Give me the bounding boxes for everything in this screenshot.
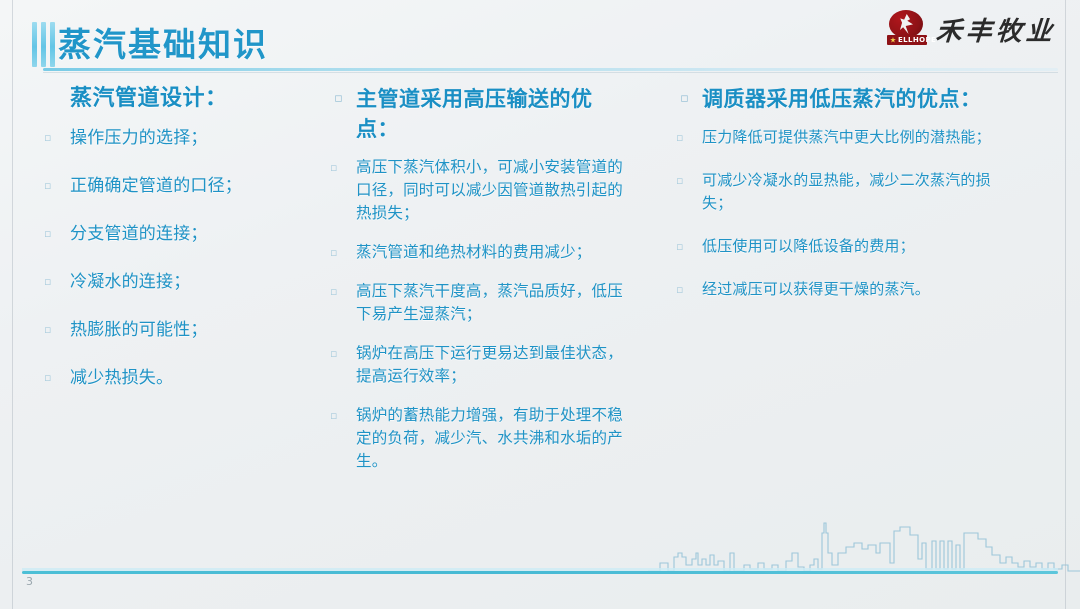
title-accent-bars-icon <box>32 22 55 67</box>
bullet-square-icon: ▫ <box>330 404 356 425</box>
header-divider <box>43 68 1058 71</box>
list-item-text: 冷凝水的连接； <box>70 270 190 294</box>
list-item: ▫ 减少热损失。 <box>44 366 324 390</box>
list-item-text: 低压使用可以降低设备的费用； <box>702 235 915 258</box>
bullet-square-icon: ▫ <box>676 169 702 190</box>
list-item-text: 可减少冷凝水的显热能，减少二次蒸汽的损失； <box>702 169 1006 215</box>
bullet-square-icon: ▫ <box>44 222 70 243</box>
slide-header: 蒸汽基础知识 ELLHOPE 禾丰牧业 <box>0 0 1080 76</box>
bullet-square-icon: ▫ <box>44 366 70 387</box>
column-1-list: ▫ 操作压力的选择； ▫ 正确确定管道的口径； ▫ 分支管道的连接； ▫ 冷凝水… <box>44 126 324 390</box>
content-columns: ▫ 蒸汽管道设计： ▫ 操作压力的选择； ▫ 正确确定管道的口径； ▫ 分支管道… <box>0 84 1080 534</box>
logo-emblem-icon: ELLHOPE <box>887 10 927 48</box>
list-item: ▫ 操作压力的选择； <box>44 126 324 150</box>
list-item: ▫ 经过减压可以获得更干燥的蒸汽。 <box>676 278 1006 301</box>
logo-mark-text: ELLHOPE <box>898 36 936 44</box>
list-item: ▫ 分支管道的连接； <box>44 222 324 246</box>
list-item-text: 高压下蒸汽干度高，蒸汽品质好，低压下易产生湿蒸汽； <box>356 280 630 326</box>
list-item: ▫ 压力降低可提供蒸汽中更大比例的潜热能； <box>676 126 1006 149</box>
list-item-text: 压力降低可提供蒸汽中更大比例的潜热能； <box>702 126 991 149</box>
bullet-square-icon: ▫ <box>330 241 356 262</box>
column-1-heading: 蒸汽管道设计： <box>70 84 228 114</box>
column-2-heading-row: ▫ 主管道采用高压输送的优点： <box>330 84 630 144</box>
list-item: ▫ 可减少冷凝水的显热能，减少二次蒸汽的损失； <box>676 169 1006 215</box>
column-2-list: ▫ 高压下蒸汽体积小，可减小安装管道的口径，同时可以减少因管道散热引起的热损失；… <box>330 156 630 473</box>
list-item-text: 蒸汽管道和绝热材料的费用减少； <box>356 241 592 264</box>
bullet-square-icon: ▫ <box>44 126 70 147</box>
footer-divider <box>22 571 1058 574</box>
company-logo: ELLHOPE 禾丰牧业 <box>887 10 1056 48</box>
list-item-text: 操作压力的选择； <box>70 126 208 150</box>
list-item-text: 锅炉的蓄热能力增强，有助于处理不稳定的负荷，减少汽、水共沸和水垢的产生。 <box>356 404 630 473</box>
list-item: ▫ 热膨胀的可能性； <box>44 318 324 342</box>
list-item: ▫ 正确确定管道的口径； <box>44 174 324 198</box>
list-item: ▫ 锅炉的蓄热能力增强，有助于处理不稳定的负荷，减少汽、水共沸和水垢的产生。 <box>330 404 630 473</box>
bullet-square-icon: ▫ <box>44 270 70 291</box>
list-item: ▫ 蒸汽管道和绝热材料的费用减少； <box>330 241 630 264</box>
list-item-text: 正确确定管道的口径； <box>70 174 242 198</box>
list-item: ▫ 高压下蒸汽体积小，可减小安装管道的口径，同时可以减少因管道散热引起的热损失； <box>330 156 630 225</box>
list-item: ▫ 高压下蒸汽干度高，蒸汽品质好，低压下易产生湿蒸汽； <box>330 280 630 326</box>
content-column-1: ▫ 蒸汽管道设计： ▫ 操作压力的选择； ▫ 正确确定管道的口径； ▫ 分支管道… <box>44 84 324 414</box>
column-3-heading-marker-icon: ▫ <box>676 84 702 114</box>
bullet-square-icon: ▫ <box>44 318 70 339</box>
slide-canvas: 蒸汽基础知识 ELLHOPE 禾丰牧业 ▫ 蒸汽管道设计： <box>0 0 1080 609</box>
list-item-text: 经过减压可以获得更干燥的蒸汽。 <box>702 278 930 301</box>
header-divider-secondary <box>43 72 1058 73</box>
column-1-heading-row: ▫ 蒸汽管道设计： <box>44 84 324 114</box>
column-3-list: ▫ 压力降低可提供蒸汽中更大比例的潜热能； ▫ 可减少冷凝水的显热能，减少二次蒸… <box>676 126 1006 301</box>
logo-star-icon <box>890 37 896 43</box>
column-3-heading: 调质器采用低压蒸汽的优点： <box>702 84 982 114</box>
content-column-2: ▫ 主管道采用高压输送的优点： ▫ 高压下蒸汽体积小，可减小安装管道的口径，同时… <box>330 84 630 489</box>
list-item-text: 减少热损失。 <box>70 366 173 390</box>
page-number: 3 <box>26 575 34 588</box>
bullet-square-icon: ▫ <box>330 342 356 363</box>
bullet-square-icon: ▫ <box>330 280 356 301</box>
bullet-square-icon: ▫ <box>676 235 702 256</box>
list-item: ▫ 锅炉在高压下运行更易达到最佳状态，提高运行效率； <box>330 342 630 388</box>
logo-brand-text: 禾丰牧业 <box>935 11 1058 48</box>
column-2-heading-marker-icon: ▫ <box>330 84 356 114</box>
list-item-text: 高压下蒸汽体积小，可减小安装管道的口径，同时可以减少因管道散热引起的热损失； <box>356 156 630 225</box>
bullet-square-icon: ▫ <box>676 278 702 299</box>
bullet-square-icon: ▫ <box>330 156 356 177</box>
bullet-square-icon: ▫ <box>676 126 702 147</box>
list-item-text: 锅炉在高压下运行更易达到最佳状态，提高运行效率； <box>356 342 630 388</box>
list-item: ▫ 低压使用可以降低设备的费用； <box>676 235 1006 258</box>
bullet-square-icon: ▫ <box>44 174 70 195</box>
content-column-3: ▫ 调质器采用低压蒸汽的优点： ▫ 压力降低可提供蒸汽中更大比例的潜热能； ▫ … <box>676 84 1006 321</box>
column-2-heading: 主管道采用高压输送的优点： <box>356 84 630 144</box>
column-3-heading-row: ▫ 调质器采用低压蒸汽的优点： <box>676 84 1006 114</box>
list-item-text: 热膨胀的可能性； <box>70 318 208 342</box>
page-title: 蒸汽基础知识 <box>58 18 268 66</box>
list-item-text: 分支管道的连接； <box>70 222 208 246</box>
list-item: ▫ 冷凝水的连接； <box>44 270 324 294</box>
